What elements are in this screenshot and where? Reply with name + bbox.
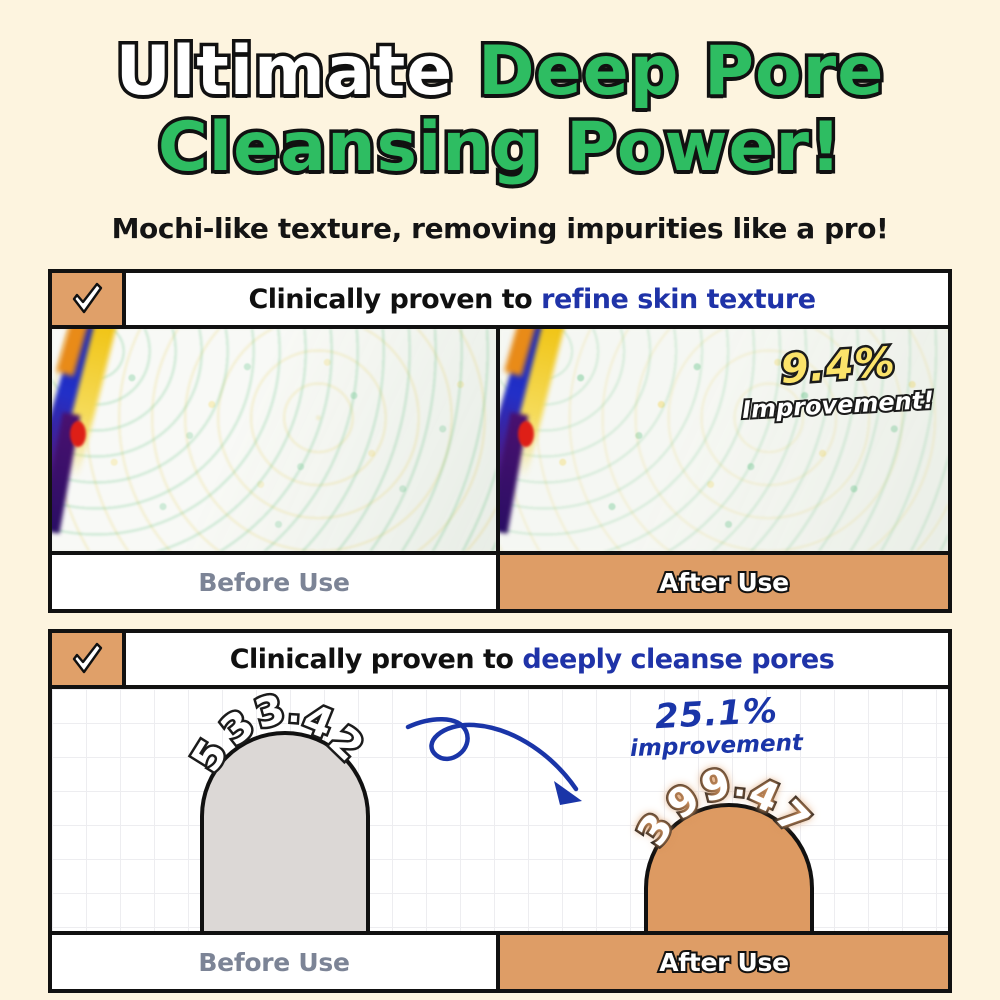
dot-red: [518, 421, 534, 447]
footer-before-use-1: Before Use: [52, 555, 500, 609]
title-line-1: Ultimate Deep Pore: [0, 34, 1000, 110]
image-panels-skin-texture: 9.4% Improvement!: [52, 329, 948, 555]
title-phrase-cleansing-power: Cleansing Power!: [158, 108, 842, 187]
card-title-pores: Clinically proven to deeply cleanse pore…: [126, 633, 948, 685]
subtitle: Mochi-like texture, removing impurities …: [0, 212, 1000, 245]
footer-row-skin-texture: Before Use After Use: [52, 555, 948, 609]
card-title-highlight-2: deeply cleanse pores: [522, 644, 834, 675]
bar-after-use: [644, 803, 814, 931]
title-phrase-deep-pore: Deep Pore: [478, 32, 884, 111]
checkmark-icon: [67, 279, 107, 319]
title-word-ultimate: Ultimate: [116, 32, 454, 111]
check-badge: [52, 633, 126, 685]
card-title-highlight-1: refine skin texture: [541, 284, 815, 315]
dot-red: [70, 421, 86, 447]
checkmark-icon: [67, 639, 107, 679]
panel-before-skin: [52, 329, 500, 551]
footer-after-use-1: After Use: [500, 555, 948, 609]
improvement-overlay: 9.4% Improvement!: [742, 343, 934, 419]
footer-after-use-2: After Use: [500, 935, 948, 989]
card-header-skin-texture: Clinically proven to refine skin texture: [52, 273, 948, 329]
footer-row-pores: Before Use After Use: [52, 935, 948, 989]
bar-value-char: .: [732, 764, 749, 805]
card-deep-cleanse-pores: Clinically proven to deeply cleanse pore…: [48, 629, 952, 993]
card-header-pores: Clinically proven to deeply cleanse pore…: [52, 633, 948, 689]
footer-before-use-2: Before Use: [52, 935, 500, 989]
panel-after-skin: 9.4% Improvement!: [500, 329, 948, 551]
skin-edge-band-after: [500, 329, 580, 551]
curved-arrow-icon: [404, 697, 614, 827]
skin-edge-band-before: [52, 329, 132, 551]
improvement-annotation: 25.1% improvement: [630, 697, 803, 758]
title-line-2: Cleansing Power!: [0, 110, 1000, 186]
improvement-word-2: improvement: [630, 731, 804, 761]
title-block: Ultimate Deep Pore Cleansing Power!: [0, 0, 1000, 186]
card-title-plain-2: Clinically proven to: [230, 644, 514, 675]
card-title-skin-texture: Clinically proven to refine skin texture: [126, 273, 948, 325]
bar-before-use: [200, 731, 370, 931]
card-title-plain-1: Clinically proven to: [248, 284, 532, 315]
bar-chart: 5 3 3 . 4 2 3 9 9 . 4 7 25.1% improvemen…: [52, 689, 948, 935]
bar-value-char: .: [287, 691, 303, 732]
check-badge: [52, 273, 126, 325]
card-skin-texture: Clinically proven to refine skin texture: [48, 269, 952, 613]
